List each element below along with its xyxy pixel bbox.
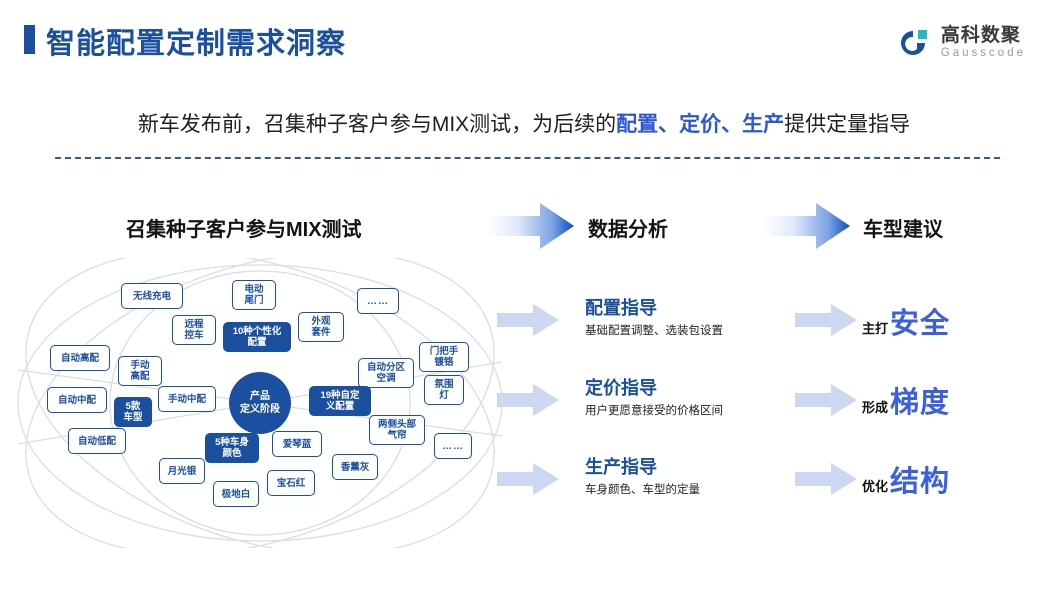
- sphere-node: 10种个性化 配置: [223, 322, 291, 352]
- subtitle-part2: 提供定量指导: [784, 113, 910, 136]
- sphere-node: 手动 高配: [118, 356, 162, 386]
- analysis-row-title: 配置指导: [585, 296, 795, 320]
- suggestion-word: 梯度: [890, 379, 950, 421]
- analysis-row-desc: 车身颜色、车型的定量: [585, 481, 795, 499]
- sphere-node: 极地白: [213, 481, 259, 507]
- sphere-node: 香薰灰: [332, 454, 378, 480]
- sphere-node: 外观 套件: [298, 312, 344, 342]
- right-arrow-icon: [764, 202, 850, 250]
- sphere-node: 19种自定 义配置: [309, 386, 371, 416]
- suggestion-word: 安全: [890, 300, 950, 342]
- sphere-node: 门把手 镀铬: [419, 342, 469, 372]
- analysis-row-desc: 用户更愿意接受的价格区间: [585, 402, 795, 420]
- right-arrow-icon: [795, 303, 857, 337]
- sphere-node: 月光银: [159, 458, 205, 484]
- suggestion-row: 优化 结构: [862, 458, 950, 500]
- brand-logo: 高科数聚 Gausscode: [898, 22, 1026, 64]
- suggestion-prefix: 优化: [862, 476, 888, 495]
- sphere-node: 宝石红: [267, 470, 315, 496]
- page-header: 智能配置定制需求洞察 高科数聚 Gausscode: [0, 0, 1048, 80]
- sphere-node: 手动中配: [158, 386, 216, 412]
- suggestion-row: 形成 梯度: [862, 379, 950, 421]
- sphere-center-node: 产品 定义阶段: [229, 372, 291, 434]
- sphere-node: 自动低配: [68, 428, 126, 454]
- suggestion-prefix: 主打: [862, 318, 888, 337]
- right-arrow-icon: [795, 383, 857, 417]
- analysis-row-title: 生产指导: [585, 455, 795, 479]
- sphere-node: 5款 车型: [114, 397, 152, 427]
- subtitle-highlight: 配置、定价、生产: [616, 113, 784, 136]
- gausscode-logo-icon: [898, 28, 932, 58]
- analysis-row: 定价指导 用户更愿意接受的价格区间: [585, 376, 795, 420]
- sphere-node: 电动 尾门: [232, 280, 276, 310]
- logo-name-cn: 高科数聚: [941, 26, 1026, 46]
- sphere-node: 无线充电: [121, 283, 183, 309]
- analysis-row-title: 定价指导: [585, 376, 795, 400]
- suggestion-word: 结构: [890, 458, 950, 500]
- analysis-row: 配置指导 基础配置调整、选装包设置: [585, 296, 795, 340]
- sphere-node: ……: [357, 288, 399, 314]
- sphere-node: 5种车身 颜色: [205, 433, 259, 463]
- suggestion-row: 主打 安全: [862, 300, 950, 342]
- section-divider: [55, 157, 1000, 159]
- logo-text: 高科数聚 Gausscode: [941, 26, 1026, 60]
- sphere-node: 两侧头部 气帘: [369, 415, 425, 445]
- product-definition-sphere: 产品 定义阶段 无线充电电动 尾门……远程 控车10种个性化 配置外观 套件门把…: [10, 258, 510, 548]
- right-arrow-icon: [488, 202, 574, 250]
- sphere-node: 远程 控车: [172, 315, 216, 345]
- column-heading-analysis: 数据分析: [588, 213, 668, 242]
- column-heading-collect: 召集种子客户参与MIX测试: [126, 213, 362, 242]
- right-arrow-icon: [795, 462, 857, 496]
- sphere-node: ……: [434, 433, 472, 459]
- sphere-node: 自动分区 空调: [358, 358, 414, 388]
- title-marker: [24, 25, 35, 54]
- sphere-node: 氛围 灯: [424, 375, 464, 405]
- analysis-row: 生产指导 车身颜色、车型的定量: [585, 455, 795, 499]
- sphere-node: 自动中配: [47, 387, 107, 413]
- analysis-row-desc: 基础配置调整、选装包设置: [585, 322, 795, 340]
- suggestion-prefix: 形成: [862, 397, 888, 416]
- page-title: 智能配置定制需求洞察: [46, 20, 346, 62]
- column-heading-suggestion: 车型建议: [863, 213, 943, 242]
- subtitle: 新车发布前，召集种子客户参与MIX测试，为后续的配置、定价、生产提供定量指导: [0, 108, 1048, 138]
- logo-name-en: Gausscode: [941, 46, 1026, 60]
- subtitle-part1: 新车发布前，召集种子客户参与MIX测试，为后续的: [138, 113, 616, 136]
- sphere-node: 爱琴蓝: [272, 431, 322, 457]
- sphere-node: 自动高配: [50, 345, 110, 371]
